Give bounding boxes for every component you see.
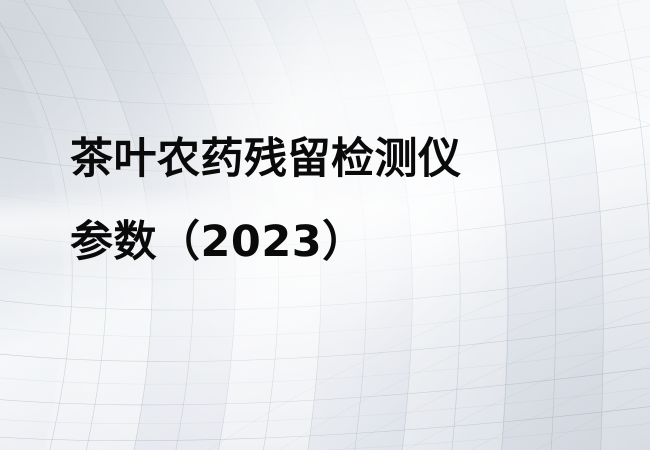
page-title: 茶叶农药残留检测仪 参数（2023） [70,118,462,284]
title-banner: 茶叶农药残留检测仪 参数（2023） [0,0,650,450]
title-line-secondary: 参数（2023） [70,201,462,284]
title-line-primary: 茶叶农药残留检测仪 [70,118,462,201]
